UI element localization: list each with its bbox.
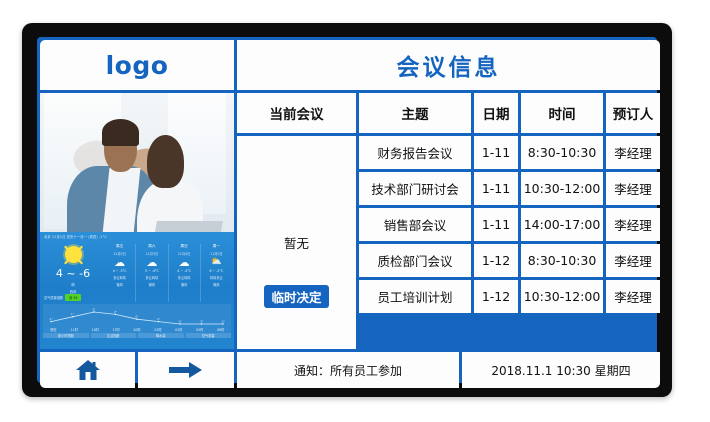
next-page-button[interactable] [138,352,234,388]
weather-temperature: 4 ~ -6 [56,267,90,280]
weather-forecast-list: 周五 11月2日 ☁ 4 ~ -5°C 多云转晴 微风 周六 11月3日 ☁ 5… [104,244,232,302]
forecast-wind: 微风 [149,282,155,287]
table-row: 8:30-10:30 [521,244,603,277]
forecast-day-name: 周六 [148,244,155,249]
table-row: 质检部门会议 [359,244,471,277]
sun-cloud-icon: ⛅ [211,258,222,267]
monitor-bezel: logo 北京 [22,23,672,397]
weather-header-text: 北京 11月1日 农历十一月一 (周四) -1°C [44,234,230,239]
temporary-decision-badge[interactable]: 临时决定 [264,285,328,308]
cloud-icon: ☁ [146,258,157,267]
table-row: 李经理 [606,244,660,277]
home-icon [75,358,101,382]
weather-tab[interactable]: 逐小时预报 [43,333,89,338]
svg-text:-1°: -1° [49,317,54,321]
home-button[interactable] [40,352,135,388]
table-row: 10:30-12:00 [521,280,603,313]
page-title-cell: 会议信息 [237,40,660,90]
column-header-time: 时间 [521,93,603,133]
hourly-temperature-chart: -1°1°3°2°0°-1°-2°-2°-2° 现在 11时 14时 17时 2… [43,304,231,338]
table-row: 1-12 [474,280,518,313]
svg-text:2°: 2° [114,310,118,314]
forecast-wind: 微风 [213,282,219,287]
table-row: 李经理 [606,208,660,241]
weather-tab[interactable]: 降水量 [138,333,184,338]
meeting-info-panel: logo 北京 [40,40,654,380]
forecast-condition: 晴转多云 [210,275,223,280]
svg-text:-2°: -2° [200,319,205,323]
chart-tick: 现在 [43,327,64,332]
table-row: 销售部会议 [359,208,471,241]
table-row: 李经理 [606,280,660,313]
datetime-bar: 2018.11.1 10:30 星期四 [462,352,660,388]
display-screen: logo 北京 [37,37,657,383]
forecast-range: 6 ~ -2°C [210,269,224,273]
chart-x-axis: 现在 11时 14时 17时 20时 23时 02时 05时 08时 [43,327,231,332]
table-row: 1-12 [474,244,518,277]
weather-chart-tabs[interactable]: 逐小时预报 生活指数 降水量 空气质量 [43,333,231,338]
notice-bar: 通知：所有员工参加 [237,352,459,388]
current-meeting-value: 暂无 [237,136,356,349]
temporary-decision-cell[interactable]: 临时决定 [237,280,356,313]
forecast-range: 5 ~ -4°C [145,269,159,273]
chart-tick: 17时 [106,327,127,332]
weather-tab[interactable]: 生活指数 [91,333,137,338]
column-header-booker: 预订人 [606,93,660,133]
air-quality: 空气质量指数 良 56 [44,294,102,301]
svg-text:0°: 0° [136,315,140,319]
forecast-day-name: 周一 [213,244,220,249]
svg-text:1°: 1° [71,312,75,316]
forecast-range: 4 ~ -5°C [113,269,127,273]
forecast-wind: 微风 [181,282,187,287]
cloud-icon: ☁ [114,258,125,267]
forecast-condition: 多云转晴 [113,275,126,280]
chart-tick: 02时 [168,327,189,332]
svg-text:-1°: -1° [157,317,162,321]
weather-header: 北京 11月1日 农历十一月一 (周四) -1°C [44,234,230,243]
logo-text: logo [106,51,169,80]
forecast-day[interactable]: 周六 11月3日 ☁ 5 ~ -4°C 多云转晴 微风 [135,244,167,302]
svg-text:-2°: -2° [221,319,226,323]
chart-tick: 05时 [189,327,210,332]
column-header-current-meeting: 当前会议 [237,93,356,133]
table-row: 技术部门研讨会 [359,172,471,205]
chart-tick: 20时 [127,327,148,332]
table-row: 14:00-17:00 [521,208,603,241]
chart-tick: 11时 [64,327,85,332]
screenshot-stage: logo 北京 [0,0,710,422]
column-header-date: 日期 [474,93,518,133]
forecast-range: 4 ~ -4°C [177,269,191,273]
table-row: 李经理 [606,172,660,205]
table-row: 10:30-12:00 [521,172,603,205]
table-row: 李经理 [606,136,660,169]
weather-tab[interactable]: 空气质量 [186,333,232,338]
forecast-day[interactable]: 周一 11月5日 ⛅ 6 ~ -2°C 晴转多云 微风 [200,244,232,302]
svg-text:3°: 3° [93,307,97,311]
chart-tick: 14时 [85,327,106,332]
weather-widget[interactable]: 北京 11月1日 农历十一月一 (周四) -1°C 4 ~ -6 晴 西风 空气… [40,232,234,349]
meeting-table: 当前会议 主题 日期 时间 预订人 暂无 财务报告会议 1-11 8:30-10… [237,93,660,349]
chart-tick: 23时 [147,327,168,332]
weather-condition: 晴 [71,282,74,287]
aqi-label: 空气质量指数 [44,295,63,300]
sun-icon [65,246,82,263]
logo-cell[interactable]: logo [40,40,234,90]
table-row: 1-11 [474,136,518,169]
chart-tick: 08时 [210,327,231,332]
forecast-day-name: 周日 [181,244,188,249]
arrow-right-icon [169,361,203,379]
cloud-icon: ☁ [179,258,190,267]
aqi-value: 良 56 [65,294,81,301]
forecast-day-name: 周五 [116,244,123,249]
weather-today: 4 ~ -6 晴 西风 [44,244,102,296]
forecast-day[interactable]: 周五 11月2日 ☁ 4 ~ -5°C 多云转晴 微风 [104,244,135,302]
table-row: 8:30-10:30 [521,136,603,169]
svg-text:-2°: -2° [178,319,183,323]
table-row: 1-11 [474,208,518,241]
forecast-condition: 多云转晴 [178,275,191,280]
forecast-condition: 多云转晴 [146,275,159,280]
page-title: 会议信息 [397,48,501,82]
table-row: 1-11 [474,172,518,205]
forecast-wind: 微风 [116,282,122,287]
forecast-day[interactable]: 周日 11月4日 ☁ 4 ~ -4°C 多云转晴 微风 [168,244,200,302]
column-header-subject: 主题 [359,93,471,133]
table-row: 财务报告会议 [359,136,471,169]
forecast-date: 11月5日 [210,251,222,256]
table-row: 员工培训计划 [359,280,471,313]
